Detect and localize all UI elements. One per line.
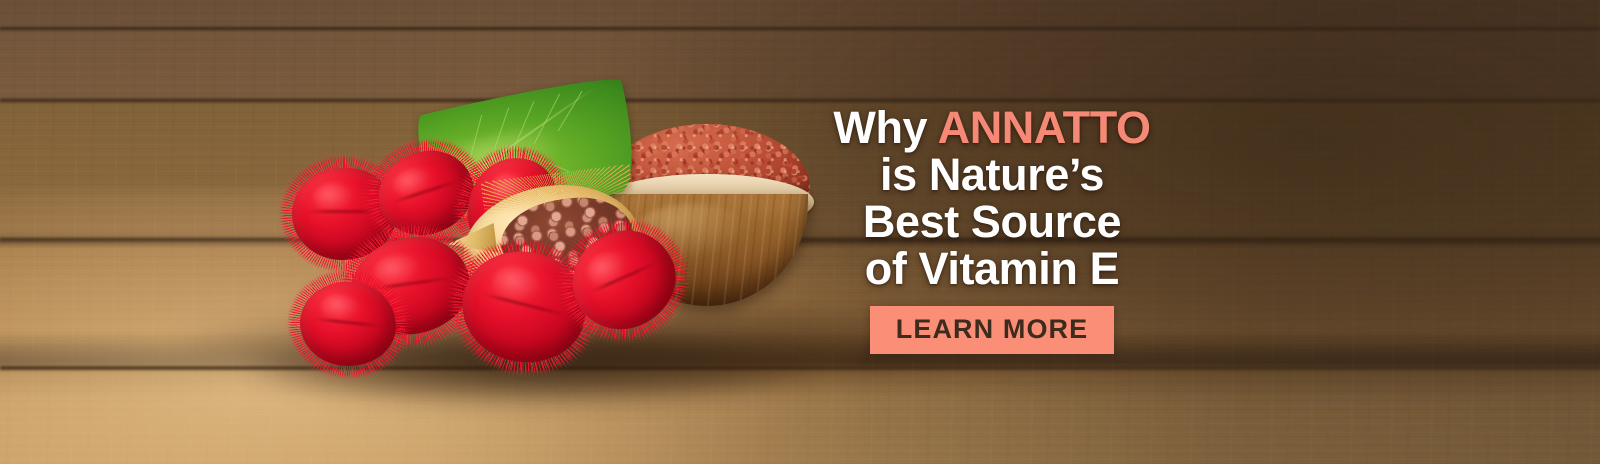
headline-line-2: is Nature’s (806, 151, 1178, 198)
headline-prefix: Why (833, 102, 937, 153)
annatto-pod (296, 277, 400, 371)
headline-line-4: of Vitamin E (806, 245, 1178, 292)
promo-banner: Why ANNATTO is Nature’s Best Source of V… (0, 0, 1600, 464)
learn-more-button[interactable]: LEARN MORE (870, 306, 1115, 354)
annatto-product-photo (0, 0, 860, 464)
headline-accent-annatto: ANNATTO (938, 102, 1151, 153)
annatto-pod (557, 215, 691, 345)
banner-copy: Why ANNATTO is Nature’s Best Source of V… (806, 104, 1178, 354)
headline: Why ANNATTO is Nature’s Best Source of V… (806, 104, 1178, 292)
headline-line-3: Best Source (806, 198, 1178, 245)
headline-line-1: Why ANNATTO (806, 104, 1178, 151)
